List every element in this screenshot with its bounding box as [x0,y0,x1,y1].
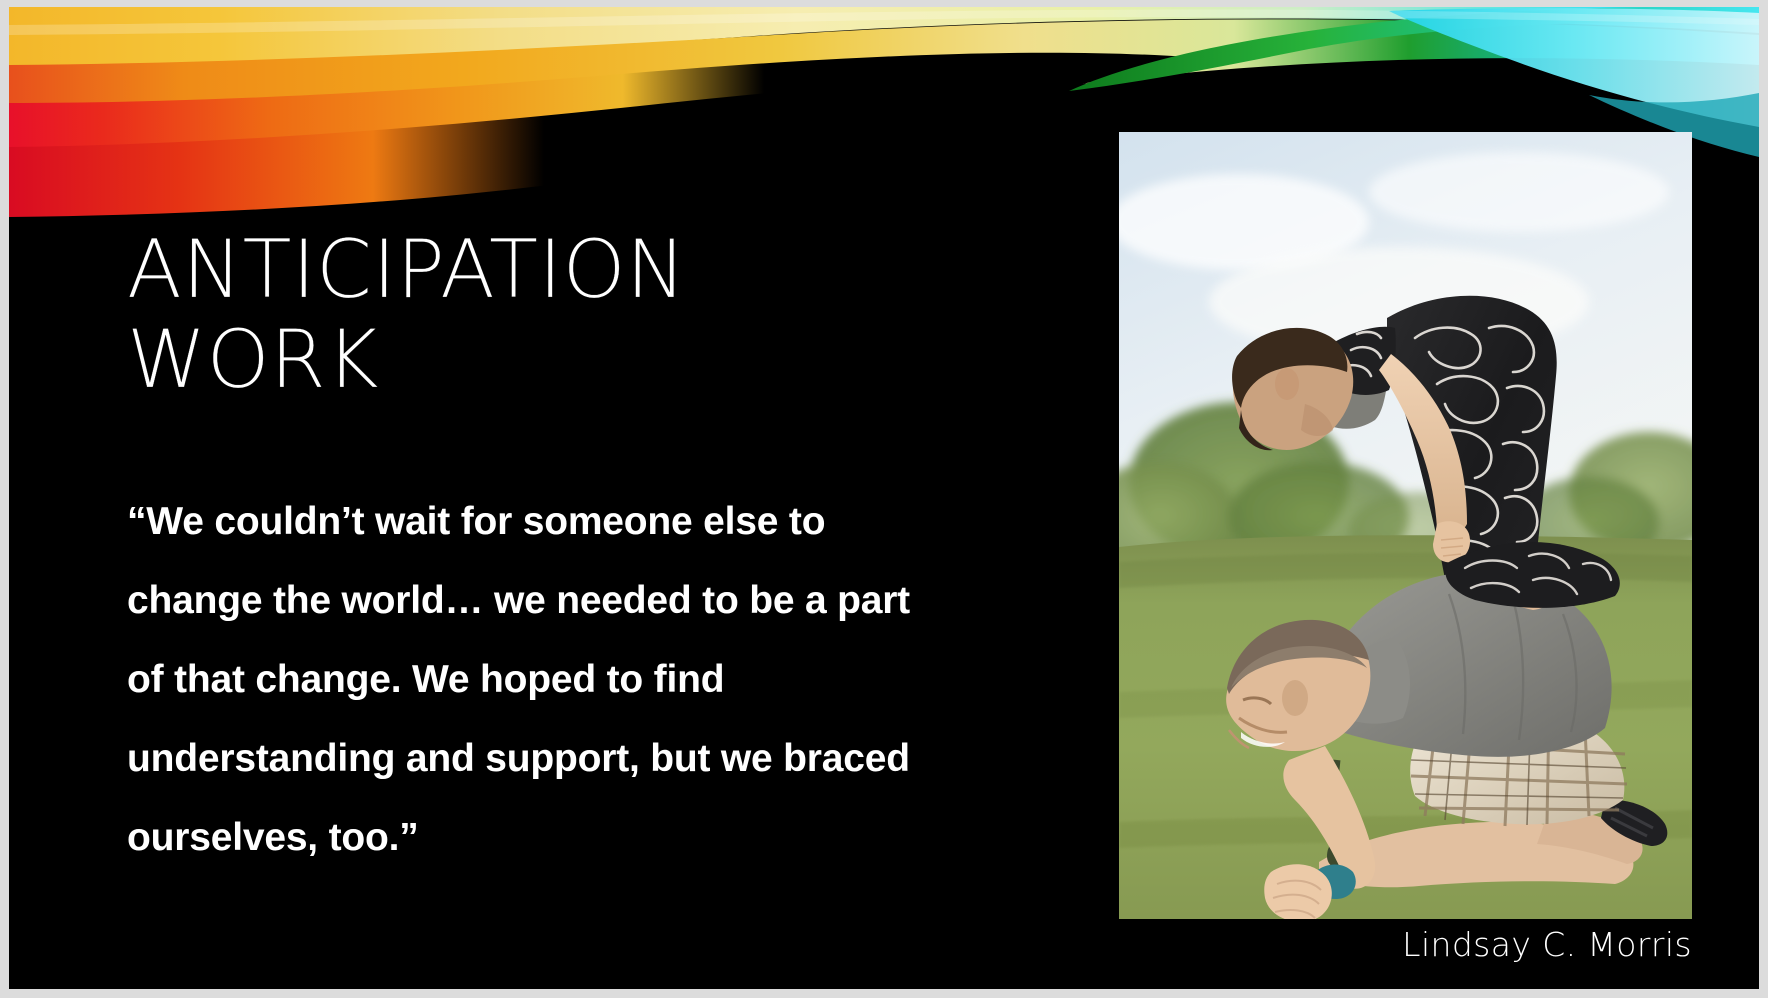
photo-boy-and-man-in-field [1119,132,1692,919]
quote-line: ourselves, too.” [127,798,1057,877]
quote-text: “We couldn’t wait for someone else to ch… [127,482,1057,877]
quote-line: of that change. We hoped to find [127,640,1057,719]
page-title: ANTICIPATION WORK [127,225,887,404]
slide-frame: ANTICIPATION WORK “We couldn’t wait for … [0,0,1768,998]
quote-line: “We couldn’t wait for someone else to [127,482,1057,561]
photo-credit: Lindsay C. Morris [1119,925,1692,964]
quote-line: change the world… we needed to be a part [127,561,1057,640]
title-line-2: WORK [127,315,887,405]
title-line-1: ANTICIPATION [127,225,887,315]
quote-line: understanding and support, but we braced [127,719,1057,798]
presentation-slide: ANTICIPATION WORK “We couldn’t wait for … [9,7,1759,989]
